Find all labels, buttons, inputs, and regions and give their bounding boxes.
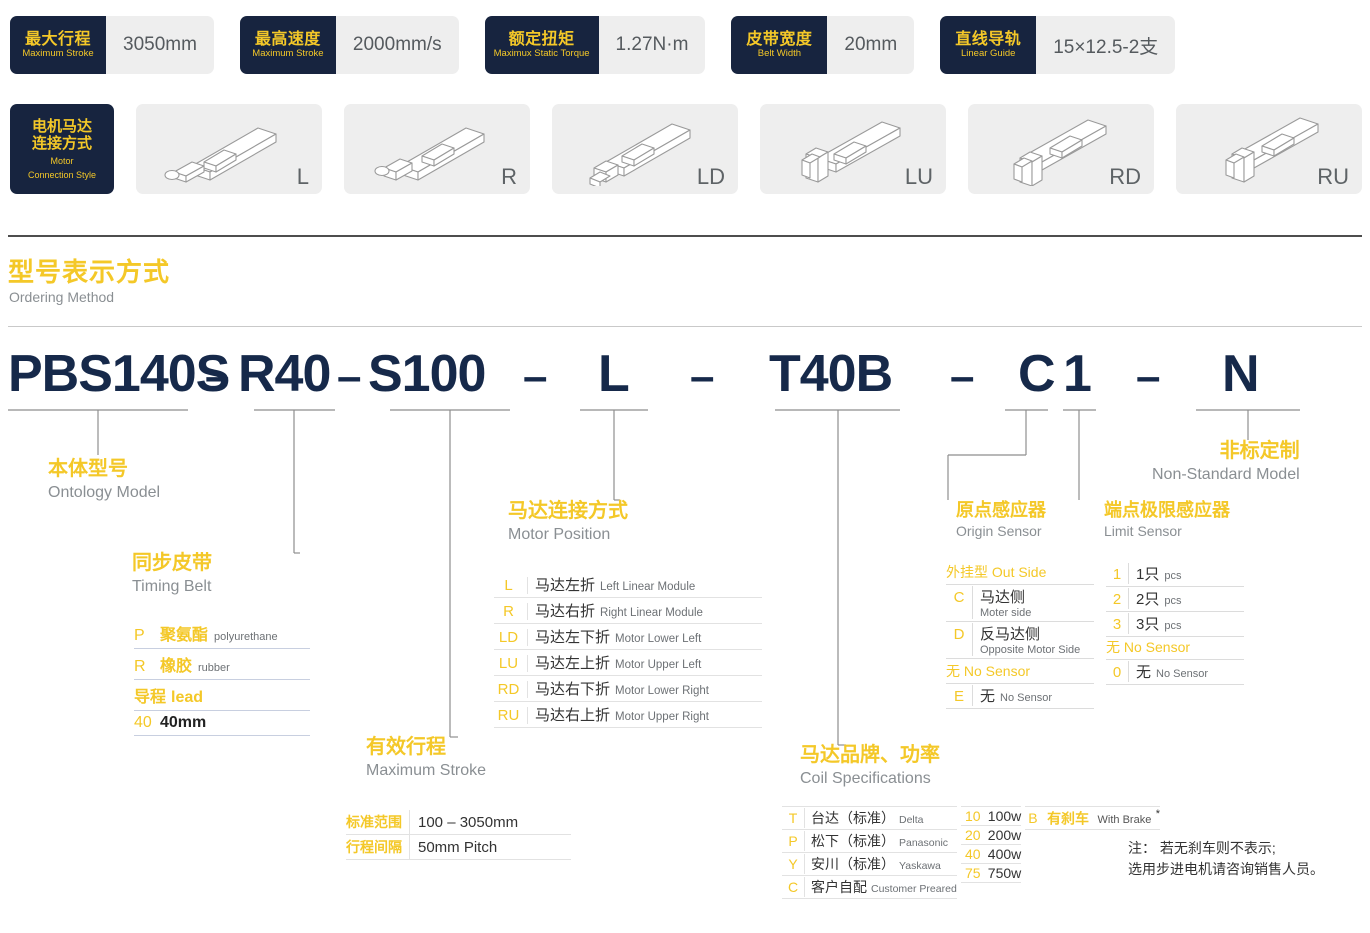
spec-value: 2000mm/s xyxy=(336,16,459,74)
option-label-en: Motor Upper Right xyxy=(615,711,709,723)
pn-segment-motorpos: L xyxy=(598,344,629,404)
option-label-en: polyurethane xyxy=(214,631,278,643)
option-code: P xyxy=(134,627,160,645)
option-label-cn: 松下（标准） xyxy=(804,831,895,851)
motor-style-en-2: Connection Style xyxy=(28,170,96,181)
option-label-cn: 马达右上折 xyxy=(535,704,610,725)
option-label-cn: 马达左上折 xyxy=(535,652,610,673)
spec-chip-row: 最大行程 Maximum Stroke 3050mm 最高速度 Maximum … xyxy=(10,14,1362,76)
spec-chip: 直线导轨 Linear Guide 15×12.5-2支 xyxy=(940,16,1175,74)
lead-title-cn: 导程 xyxy=(134,683,166,707)
option-label-cn: 马达侧 xyxy=(980,586,1031,607)
brake-note: 注： 若无刹车则不表示; 选用步进电机请咨询销售人员。 xyxy=(1128,838,1324,880)
spec-chip-head: 最大行程 Maximum Stroke xyxy=(10,16,106,74)
pn-segment-nonstd: N xyxy=(1222,344,1259,404)
option-label-en: Motor Lower Left xyxy=(615,633,701,645)
option-code: 20 xyxy=(961,827,985,843)
spec-chip: 皮带宽度 Belt Width 20mm xyxy=(731,16,914,74)
stroke-value: 50mm Pitch xyxy=(410,839,497,856)
pn-dash: – xyxy=(690,352,714,402)
ordering-method-page: 最大行程 Maximum Stroke 3050mm 最高速度 Maximum … xyxy=(0,0,1370,933)
motor-position-row[interactable]: LU 马达左上折 Motor Upper Left xyxy=(494,650,762,676)
option-label-cn: 聚氨酯 xyxy=(160,621,208,645)
option-code: E xyxy=(946,688,972,705)
option-value: 100w xyxy=(985,808,1021,824)
origin-sensor-row[interactable]: C 马达侧 Moter side xyxy=(946,585,1094,622)
pn-segment-limit: 1 xyxy=(1063,344,1091,404)
option-code: RD xyxy=(494,681,528,698)
spec-value: 1.27N·m xyxy=(599,16,706,74)
brake-option-row[interactable]: B 有刹车 With Brake * xyxy=(1025,806,1160,830)
spec-chip: 最高速度 Maximum Stroke 2000mm/s xyxy=(240,16,459,74)
coil-brand-column: T 台达（标准） Delta P 松下（标准） Panasonic Y 安川（标… xyxy=(782,806,957,899)
callout-cn: 马达品牌、功率 xyxy=(800,744,940,767)
option-code: C xyxy=(946,589,972,606)
option-label-cn: 无 xyxy=(1128,661,1151,682)
option-value: 200w xyxy=(985,827,1021,843)
spec-chip-head: 直线导轨 Linear Guide xyxy=(940,16,1036,74)
option-label-cn: 台达（标准） xyxy=(804,808,895,828)
origin-group-outside-label: 外挂型 Out Side xyxy=(946,562,1094,585)
limit-sensor-row[interactable]: 3 3只 pcs xyxy=(1106,612,1244,637)
section-title-en: Ordering Method xyxy=(9,289,114,305)
motor-style-code: RD xyxy=(1109,164,1141,190)
option-label-en: No Sensor xyxy=(1000,692,1052,704)
option-label-cn: 2只 xyxy=(1128,588,1159,609)
coil-wattage-row[interactable]: 20 200w xyxy=(961,826,1021,845)
option-value: 400w xyxy=(985,846,1021,862)
note-line-1: 注： 若无刹车则不表示; xyxy=(1128,838,1324,859)
stroke-table: 标准范围 100 – 3050mm 行程间隔 50mm Pitch xyxy=(346,810,571,860)
spec-chip-head: 最高速度 Maximum Stroke xyxy=(240,16,336,74)
callout-non-standard-model: 非标定制 Non-Standard Model xyxy=(1152,440,1300,484)
callout-en: Timing Belt xyxy=(132,577,212,596)
callout-timing-belt: 同步皮带 Timing Belt xyxy=(132,552,212,596)
motor-style-head: 电机马达 连接方式 Motor Connection Style xyxy=(10,104,114,194)
coil-wattage-row[interactable]: 75 750w xyxy=(961,864,1021,883)
option-label-en: With Brake xyxy=(1098,814,1152,826)
coil-brand-row[interactable]: P 松下（标准） Panasonic xyxy=(782,830,957,853)
option-code: L xyxy=(494,577,528,594)
stroke-row: 行程间隔 50mm Pitch xyxy=(346,835,571,860)
option-label-en: Customer Preared xyxy=(871,883,957,895)
spec-label-cn: 最高速度 xyxy=(255,31,321,49)
linear-module-left-icon xyxy=(148,112,298,186)
option-label-cn: 无 xyxy=(972,685,995,706)
limit-group-nosensor-label: 无 No Sensor xyxy=(1106,637,1244,660)
callout-cn: 端点极限感应器 xyxy=(1104,500,1230,521)
limit-sensor-row[interactable]: 0 无 No Sensor xyxy=(1106,660,1244,685)
option-label-cn: 马达左折 xyxy=(535,574,595,595)
option-label-en: rubber xyxy=(198,662,230,674)
coil-wattage-row[interactable]: 10 100w xyxy=(961,807,1021,826)
origin-sensor-options: 外挂型 Out Side C 马达侧 Moter side D 反马达侧 Opp… xyxy=(946,562,1094,709)
linear-module-upper-left-icon xyxy=(772,112,922,186)
origin-group-nosensor-label: 无 No Sensor xyxy=(946,661,1094,684)
callout-en: Coil Specifications xyxy=(800,769,940,788)
callout-cn: 非标定制 xyxy=(1152,440,1300,463)
spec-label-en: Linear Guide xyxy=(961,49,1015,60)
option-label-en: pcs xyxy=(1164,620,1181,632)
option-label-cn: 有刹车 xyxy=(1047,810,1089,826)
spec-label-en: Maximum Stroke xyxy=(252,49,323,60)
timing-belt-option-row[interactable]: P 聚氨酯 polyurethane xyxy=(134,618,310,649)
option-code: T xyxy=(782,810,804,826)
motor-style-card-ru[interactable]: RU xyxy=(1176,104,1362,194)
note-line-2: 选用步进电机请咨询销售人员。 xyxy=(1128,859,1324,880)
option-code: 75 xyxy=(961,865,985,881)
coil-wattage-row[interactable]: 40 400w xyxy=(961,845,1021,864)
motor-style-code: LU xyxy=(905,164,933,190)
spec-chip-head: 皮带宽度 Belt Width xyxy=(731,16,827,74)
option-label-en: Moter side xyxy=(980,607,1031,619)
option-label-en: Motor Lower Right xyxy=(615,685,709,697)
callout-en: Ontology Model xyxy=(48,483,160,502)
callout-motor-position: 马达连接方式 Motor Position xyxy=(508,500,628,544)
option-code: D xyxy=(946,626,972,643)
callout-en: Maximum Stroke xyxy=(366,761,486,780)
option-label-cn: 马达左下折 xyxy=(535,626,610,647)
callout-en: Motor Position xyxy=(508,525,628,544)
motor-style-cn-1: 电机马达 xyxy=(32,118,92,136)
motor-style-card-ld[interactable]: LD xyxy=(552,104,738,194)
option-label-en: Opposite Motor Side xyxy=(980,644,1080,656)
section-rule-bottom xyxy=(8,326,1362,327)
origin-sensor-row[interactable]: E 无 No Sensor xyxy=(946,684,1094,709)
spec-label-cn: 额定扭矩 xyxy=(509,31,575,49)
stroke-row: 标准范围 100 – 3050mm xyxy=(346,810,571,835)
option-code: Y xyxy=(782,856,804,872)
callout-en: Origin Sensor xyxy=(956,523,1046,540)
option-label-en: Panasonic xyxy=(899,837,948,849)
option-code: P xyxy=(782,833,804,849)
coil-specification-table: T 台达（标准） Delta P 松下（标准） Panasonic Y 安川（标… xyxy=(782,806,1160,899)
coil-brand-row[interactable]: T 台达（标准） Delta xyxy=(782,807,957,830)
callout-ontology-model: 本体型号 Ontology Model xyxy=(48,458,160,502)
option-code: RU xyxy=(494,707,528,724)
motor-style-card-l[interactable]: L xyxy=(136,104,322,194)
option-label-cn: 橡胶 xyxy=(160,652,192,676)
callout-coil-specifications: 马达品牌、功率 Coil Specifications xyxy=(800,744,940,788)
option-code: B xyxy=(1025,810,1042,826)
section-rule-top xyxy=(8,235,1362,237)
coil-wattage-column: 10 100w 20 200w 40 400w 75 750w xyxy=(961,806,1021,883)
option-value: 750w xyxy=(985,865,1021,881)
option-label-en: Motor Upper Left xyxy=(615,659,701,671)
motor-position-row[interactable]: L 马达左折 Left Linear Module xyxy=(494,572,762,598)
origin-sensor-row[interactable]: D 反马达侧 Opposite Motor Side xyxy=(946,622,1094,659)
timing-belt-options: P 聚氨酯 polyurethane R 橡胶 rubber 导程 lead 4… xyxy=(134,618,310,736)
spec-value: 15×12.5-2支 xyxy=(1036,16,1175,74)
pn-segment-stroke: S100 xyxy=(368,344,485,404)
option-code: 0 xyxy=(1106,664,1128,681)
timing-belt-lead-row[interactable]: 40 40mm xyxy=(134,711,310,736)
coil-brand-row[interactable]: Y 安川（标准） Yaskawa xyxy=(782,853,957,876)
option-code: LU xyxy=(494,655,528,672)
option-label-cn: 马达右下折 xyxy=(535,678,610,699)
option-label-en: Yaskawa xyxy=(899,860,941,872)
callout-limit-sensor: 端点极限感应器 Limit Sensor xyxy=(1104,500,1230,539)
pn-dash: – xyxy=(1136,352,1160,402)
callout-origin-sensor: 原点感应器 Origin Sensor xyxy=(956,500,1046,539)
pn-segment-origin: C xyxy=(1018,344,1055,404)
motor-position-row[interactable]: LD 马达左下折 Motor Lower Left xyxy=(494,624,762,650)
spec-value: 3050mm xyxy=(106,16,214,74)
pn-dash: – xyxy=(205,352,229,402)
linear-module-lower-left-icon xyxy=(564,112,714,186)
spec-label-cn: 最大行程 xyxy=(25,31,91,49)
motor-position-options: L 马达左折 Left Linear Module R 马达右折 Right L… xyxy=(494,572,762,728)
option-code: 3 xyxy=(1106,616,1128,633)
motor-style-card-r[interactable]: R xyxy=(344,104,530,194)
motor-style-code: LD xyxy=(697,164,725,190)
pn-dash: – xyxy=(950,352,974,402)
pn-dash: – xyxy=(523,352,547,402)
linear-module-upper-right-icon xyxy=(1188,112,1338,186)
option-label-cn: 3只 xyxy=(1128,613,1159,634)
timing-belt-lead-header: 导程 lead xyxy=(134,680,310,711)
option-code: C xyxy=(782,879,804,895)
spec-value: 20mm xyxy=(827,16,914,74)
pn-segment-ontology: PBS140S xyxy=(8,344,229,404)
pn-segment-belt: R40 xyxy=(238,344,330,404)
linear-module-right-icon xyxy=(356,112,506,186)
limit-sensor-options: 1 1只 pcs 2 2只 pcs 3 3只 pcs 无 No Sensor 0… xyxy=(1106,562,1244,685)
callout-cn: 同步皮带 xyxy=(132,552,212,575)
option-code: 10 xyxy=(961,808,985,824)
option-value: 40mm xyxy=(160,714,206,732)
motor-style-cn-2: 连接方式 xyxy=(32,135,92,153)
option-code: 2 xyxy=(1106,591,1128,608)
option-label-cn: 安川（标准） xyxy=(804,854,895,874)
option-code: 40 xyxy=(961,846,985,862)
callout-cn: 本体型号 xyxy=(48,458,160,481)
motor-style-card-rd[interactable]: RD xyxy=(968,104,1154,194)
stroke-key: 行程间隔 xyxy=(346,835,410,859)
option-code: 40 xyxy=(134,714,160,732)
option-label-en: pcs xyxy=(1164,570,1181,582)
spec-label-en: Belt Width xyxy=(758,49,801,60)
option-label-cn: 客户自配 xyxy=(804,877,867,897)
stroke-key: 标准范围 xyxy=(346,810,410,834)
motor-style-card-lu[interactable]: LU xyxy=(760,104,946,194)
option-code: R xyxy=(134,658,160,676)
option-label-en: Left Linear Module xyxy=(600,581,695,593)
pn-segment-coil: T40B xyxy=(769,344,892,404)
option-label-cn: 反马达侧 xyxy=(980,623,1080,644)
option-code: LD xyxy=(494,629,528,646)
option-label-en: Right Linear Module xyxy=(600,607,703,619)
spec-label-en: Maximux Static Torque xyxy=(494,49,590,60)
spec-chip: 额定扭矩 Maximux Static Torque 1.27N·m xyxy=(485,16,706,74)
motor-position-row[interactable]: R 马达右折 Right Linear Module xyxy=(494,598,762,624)
motor-style-code: R xyxy=(501,164,517,190)
option-code: R xyxy=(494,603,528,620)
callout-cn: 原点感应器 xyxy=(956,500,1046,521)
option-label-cn: 1只 xyxy=(1128,563,1159,584)
callout-maximum-stroke: 有效行程 Maximum Stroke xyxy=(366,736,486,780)
motor-style-en-1: Motor xyxy=(50,156,73,167)
section-title-cn: 型号表示方式 xyxy=(8,252,170,289)
linear-module-lower-right-icon xyxy=(980,112,1130,186)
spec-chip-head: 额定扭矩 Maximux Static Torque xyxy=(485,16,599,74)
pn-dash: – xyxy=(337,352,361,402)
callout-en: Limit Sensor xyxy=(1104,523,1230,540)
option-label-en: No Sensor xyxy=(1156,668,1208,680)
callout-en: Non-Standard Model xyxy=(1152,465,1300,484)
spec-label-cn: 皮带宽度 xyxy=(746,31,812,49)
motor-position-row[interactable]: RD 马达右下折 Motor Lower Right xyxy=(494,676,762,702)
footnote-marker: * xyxy=(1156,808,1160,820)
stroke-value: 100 – 3050mm xyxy=(410,814,518,831)
callout-cn: 有效行程 xyxy=(366,736,486,759)
callout-cn: 马达连接方式 xyxy=(508,500,628,523)
coil-brand-row[interactable]: C 客户自配 Customer Preared xyxy=(782,876,957,899)
motor-style-code: L xyxy=(297,164,309,190)
option-label-en: pcs xyxy=(1164,595,1181,607)
option-label-en: Delta xyxy=(899,814,924,826)
option-label-cn: 马达右折 xyxy=(535,600,595,621)
motor-style-code: RU xyxy=(1317,164,1349,190)
option-code: 1 xyxy=(1106,566,1128,583)
limit-sensor-row[interactable]: 2 2只 pcs xyxy=(1106,587,1244,612)
timing-belt-option-row[interactable]: R 橡胶 rubber xyxy=(134,649,310,680)
motor-position-row[interactable]: RU 马达右上折 Motor Upper Right xyxy=(494,702,762,728)
spec-chip: 最大行程 Maximum Stroke 3050mm xyxy=(10,16,214,74)
spec-label-cn: 直线导轨 xyxy=(955,31,1021,49)
spec-label-en: Maximum Stroke xyxy=(22,49,93,60)
lead-title-en: lead xyxy=(171,689,203,707)
limit-sensor-row[interactable]: 1 1只 pcs xyxy=(1106,562,1244,587)
motor-connection-style-row: 电机马达 连接方式 Motor Connection Style xyxy=(10,104,1362,194)
